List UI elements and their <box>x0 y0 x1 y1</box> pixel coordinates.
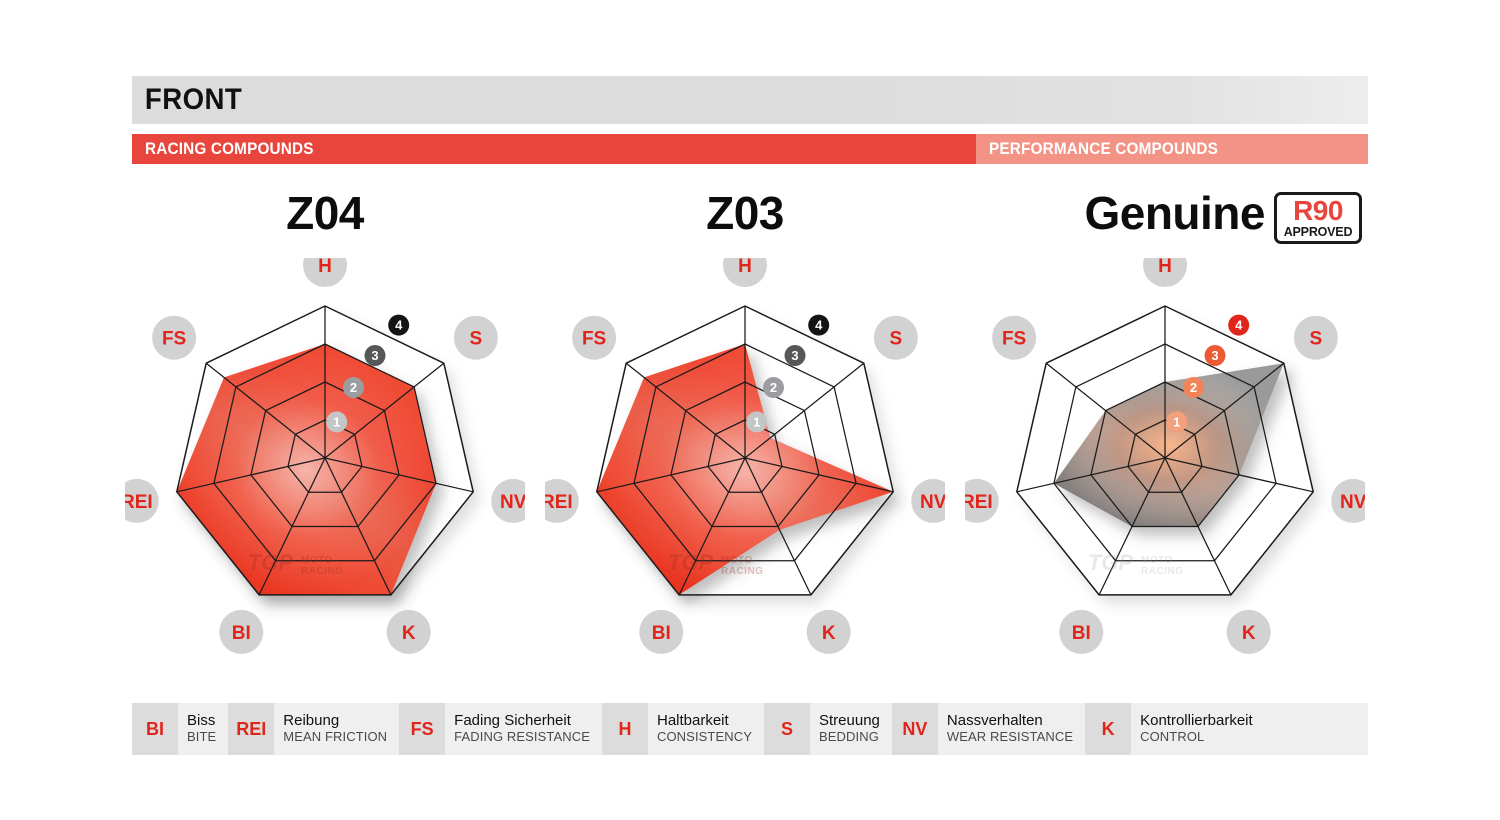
legend-text-k: Kontrollierbarkeit CONTROL <box>1131 703 1265 755</box>
legend-en-bi: BITE <box>187 730 216 745</box>
compound-title-z04: Z04 <box>180 186 470 240</box>
svg-text:3: 3 <box>1211 348 1218 363</box>
band-performance-label: PERFORMANCE COMPOUNDS <box>989 139 1218 159</box>
axis-label-h: H <box>1143 258 1187 287</box>
svg-text:1: 1 <box>753 415 760 430</box>
band-racing-label: RACING COMPOUNDS <box>145 139 314 159</box>
axis-label-nv: NV <box>911 479 945 523</box>
legend-text-fs: Fading Sicherheit FADING RESISTANCE <box>445 703 602 755</box>
svg-text:NV: NV <box>920 492 945 513</box>
ring-marker-3: 3 <box>365 345 386 366</box>
svg-text:K: K <box>402 623 416 644</box>
ring-marker-4: 4 <box>808 315 829 336</box>
legend-en-h: CONSISTENCY <box>657 730 752 745</box>
ring-marker-1: 1 <box>1166 411 1187 432</box>
axis-label-s: S <box>874 316 918 360</box>
legend-en-fs: FADING RESISTANCE <box>454 730 590 745</box>
ring-marker-3: 3 <box>1205 345 1226 366</box>
svg-text:2: 2 <box>350 380 357 395</box>
compound-title-z03: Z03 <box>600 186 890 240</box>
svg-text:NV: NV <box>500 492 525 513</box>
svg-text:H: H <box>738 258 752 277</box>
axis-label-h: H <box>723 258 767 287</box>
svg-text:BI: BI <box>652 623 671 644</box>
svg-text:K: K <box>822 623 836 644</box>
legend-text-rei: Reibung MEAN FRICTION <box>274 703 399 755</box>
axis-label-s: S <box>1294 316 1338 360</box>
svg-text:MOTO: MOTO <box>301 555 333 566</box>
legend-code-s: S <box>764 703 810 755</box>
axis-label-bi: BI <box>639 610 683 654</box>
legend-en-s: BEDDING <box>819 730 880 745</box>
svg-text:1: 1 <box>333 415 340 430</box>
legend-item-bi: BI Biss BITE <box>132 703 228 755</box>
axis-label-s: S <box>454 316 498 360</box>
band-performance-compounds: PERFORMANCE COMPOUNDS <box>976 134 1368 164</box>
legend-bar: BI Biss BITE REI Reibung MEAN FRICTION F… <box>132 703 1368 755</box>
svg-text:3: 3 <box>791 348 798 363</box>
legend-item-fs: FS Fading Sicherheit FADING RESISTANCE <box>399 703 602 755</box>
svg-text:BI: BI <box>1072 623 1091 644</box>
svg-text:2: 2 <box>1190 380 1197 395</box>
axis-label-k: K <box>807 610 851 654</box>
legend-code-nv: NV <box>892 703 938 755</box>
compound-title-genuine: Genuine <box>975 186 1265 240</box>
ring-marker-1: 1 <box>746 411 767 432</box>
svg-text:TGP: TGP <box>248 550 294 575</box>
svg-text:TGP: TGP <box>668 550 714 575</box>
legend-code-fs: FS <box>399 703 445 755</box>
legend-text-bi: Biss BITE <box>178 703 228 755</box>
svg-text:3: 3 <box>371 348 378 363</box>
legend-de-k: Kontrollierbarkeit <box>1140 713 1253 730</box>
legend-code-rei: REI <box>228 703 274 755</box>
svg-text:4: 4 <box>815 318 823 333</box>
band-racing-compounds: RACING COMPOUNDS <box>132 134 976 164</box>
legend-item-s: S Streuung BEDDING <box>764 703 892 755</box>
axis-label-nv: NV <box>1331 479 1365 523</box>
svg-text:H: H <box>318 258 332 277</box>
axis-label-nv: NV <box>491 479 525 523</box>
radar-chart-z04: TGPMOTORACING1234HSNVKBIREIFS <box>125 258 525 658</box>
ring-marker-4: 4 <box>1228 315 1249 336</box>
r90-badge-main: R90 <box>1293 197 1343 225</box>
legend-code-h: H <box>602 703 648 755</box>
svg-text:BI: BI <box>232 623 251 644</box>
svg-text:4: 4 <box>395 318 403 333</box>
svg-text:K: K <box>1242 623 1256 644</box>
legend-item-nv: NV Nassverhalten WEAR RESISTANCE <box>892 703 1085 755</box>
legend-de-bi: Biss <box>187 713 216 730</box>
legend-code-bi: BI <box>132 703 178 755</box>
r90-badge-sub: APPROVED <box>1284 226 1353 239</box>
svg-text:REI: REI <box>965 492 993 513</box>
axis-label-fs: FS <box>152 316 196 360</box>
ring-marker-2: 2 <box>763 377 784 398</box>
svg-text:RACING: RACING <box>721 566 763 577</box>
svg-text:REI: REI <box>125 492 153 513</box>
legend-de-h: Haltbarkeit <box>657 713 752 730</box>
legend-text-h: Haltbarkeit CONSISTENCY <box>648 703 764 755</box>
legend-de-nv: Nassverhalten <box>947 713 1073 730</box>
r90-approved-badge: R90 APPROVED <box>1274 192 1362 244</box>
svg-text:TGP: TGP <box>1088 550 1134 575</box>
svg-text:FS: FS <box>582 329 606 350</box>
legend-de-fs: Fading Sicherheit <box>454 713 590 730</box>
legend-text-s: Streuung BEDDING <box>810 703 892 755</box>
axis-label-k: K <box>387 610 431 654</box>
axis-label-fs: FS <box>572 316 616 360</box>
axis-label-bi: BI <box>1059 610 1103 654</box>
svg-text:S: S <box>890 329 903 350</box>
axis-label-bi: BI <box>219 610 263 654</box>
legend-item-rei: REI Reibung MEAN FRICTION <box>228 703 399 755</box>
legend-de-s: Streuung <box>819 713 880 730</box>
ring-marker-3: 3 <box>785 345 806 366</box>
legend-en-rei: MEAN FRICTION <box>283 730 387 745</box>
svg-text:REI: REI <box>545 492 573 513</box>
legend-code-k: K <box>1085 703 1131 755</box>
ring-marker-2: 2 <box>1183 377 1204 398</box>
svg-text:NV: NV <box>1340 492 1365 513</box>
radar-chart-z03: TGPMOTORACING1234HSNVKBIREIFS <box>545 258 945 658</box>
legend-item-h: H Haltbarkeit CONSISTENCY <box>602 703 764 755</box>
axis-label-rei: REI <box>965 479 999 523</box>
ring-marker-1: 1 <box>326 411 347 432</box>
legend-de-rei: Reibung <box>283 713 387 730</box>
svg-text:1: 1 <box>1173 415 1180 430</box>
legend-en-k: CONTROL <box>1140 730 1253 745</box>
svg-text:FS: FS <box>162 329 186 350</box>
axis-label-k: K <box>1227 610 1271 654</box>
axis-label-h: H <box>303 258 347 287</box>
page-title: FRONT <box>132 83 242 117</box>
svg-text:H: H <box>1158 258 1172 277</box>
svg-text:2: 2 <box>770 380 777 395</box>
svg-text:MOTO: MOTO <box>721 555 753 566</box>
svg-text:RACING: RACING <box>301 566 343 577</box>
section-title-bar: FRONT <box>132 76 1368 124</box>
svg-text:4: 4 <box>1235 318 1243 333</box>
ring-marker-2: 2 <box>343 377 364 398</box>
svg-text:RACING: RACING <box>1141 566 1183 577</box>
axis-label-fs: FS <box>992 316 1036 360</box>
svg-text:S: S <box>1310 329 1323 350</box>
radar-chart-genuine: TGPMOTORACING1234HSNVKBIREIFS <box>965 258 1365 658</box>
legend-item-k: K Kontrollierbarkeit CONTROL <box>1085 703 1265 755</box>
axis-label-rei: REI <box>545 479 579 523</box>
category-band-row: RACING COMPOUNDS PERFORMANCE COMPOUNDS <box>132 134 1368 164</box>
svg-text:FS: FS <box>1002 329 1026 350</box>
legend-text-nv: Nassverhalten WEAR RESISTANCE <box>938 703 1085 755</box>
svg-text:MOTO: MOTO <box>1141 555 1173 566</box>
axis-label-rei: REI <box>125 479 159 523</box>
svg-text:S: S <box>470 329 483 350</box>
page-root: FRONT RACING COMPOUNDS PERFORMANCE COMPO… <box>0 0 1500 820</box>
legend-en-nv: WEAR RESISTANCE <box>947 730 1073 745</box>
ring-marker-4: 4 <box>388 315 409 336</box>
